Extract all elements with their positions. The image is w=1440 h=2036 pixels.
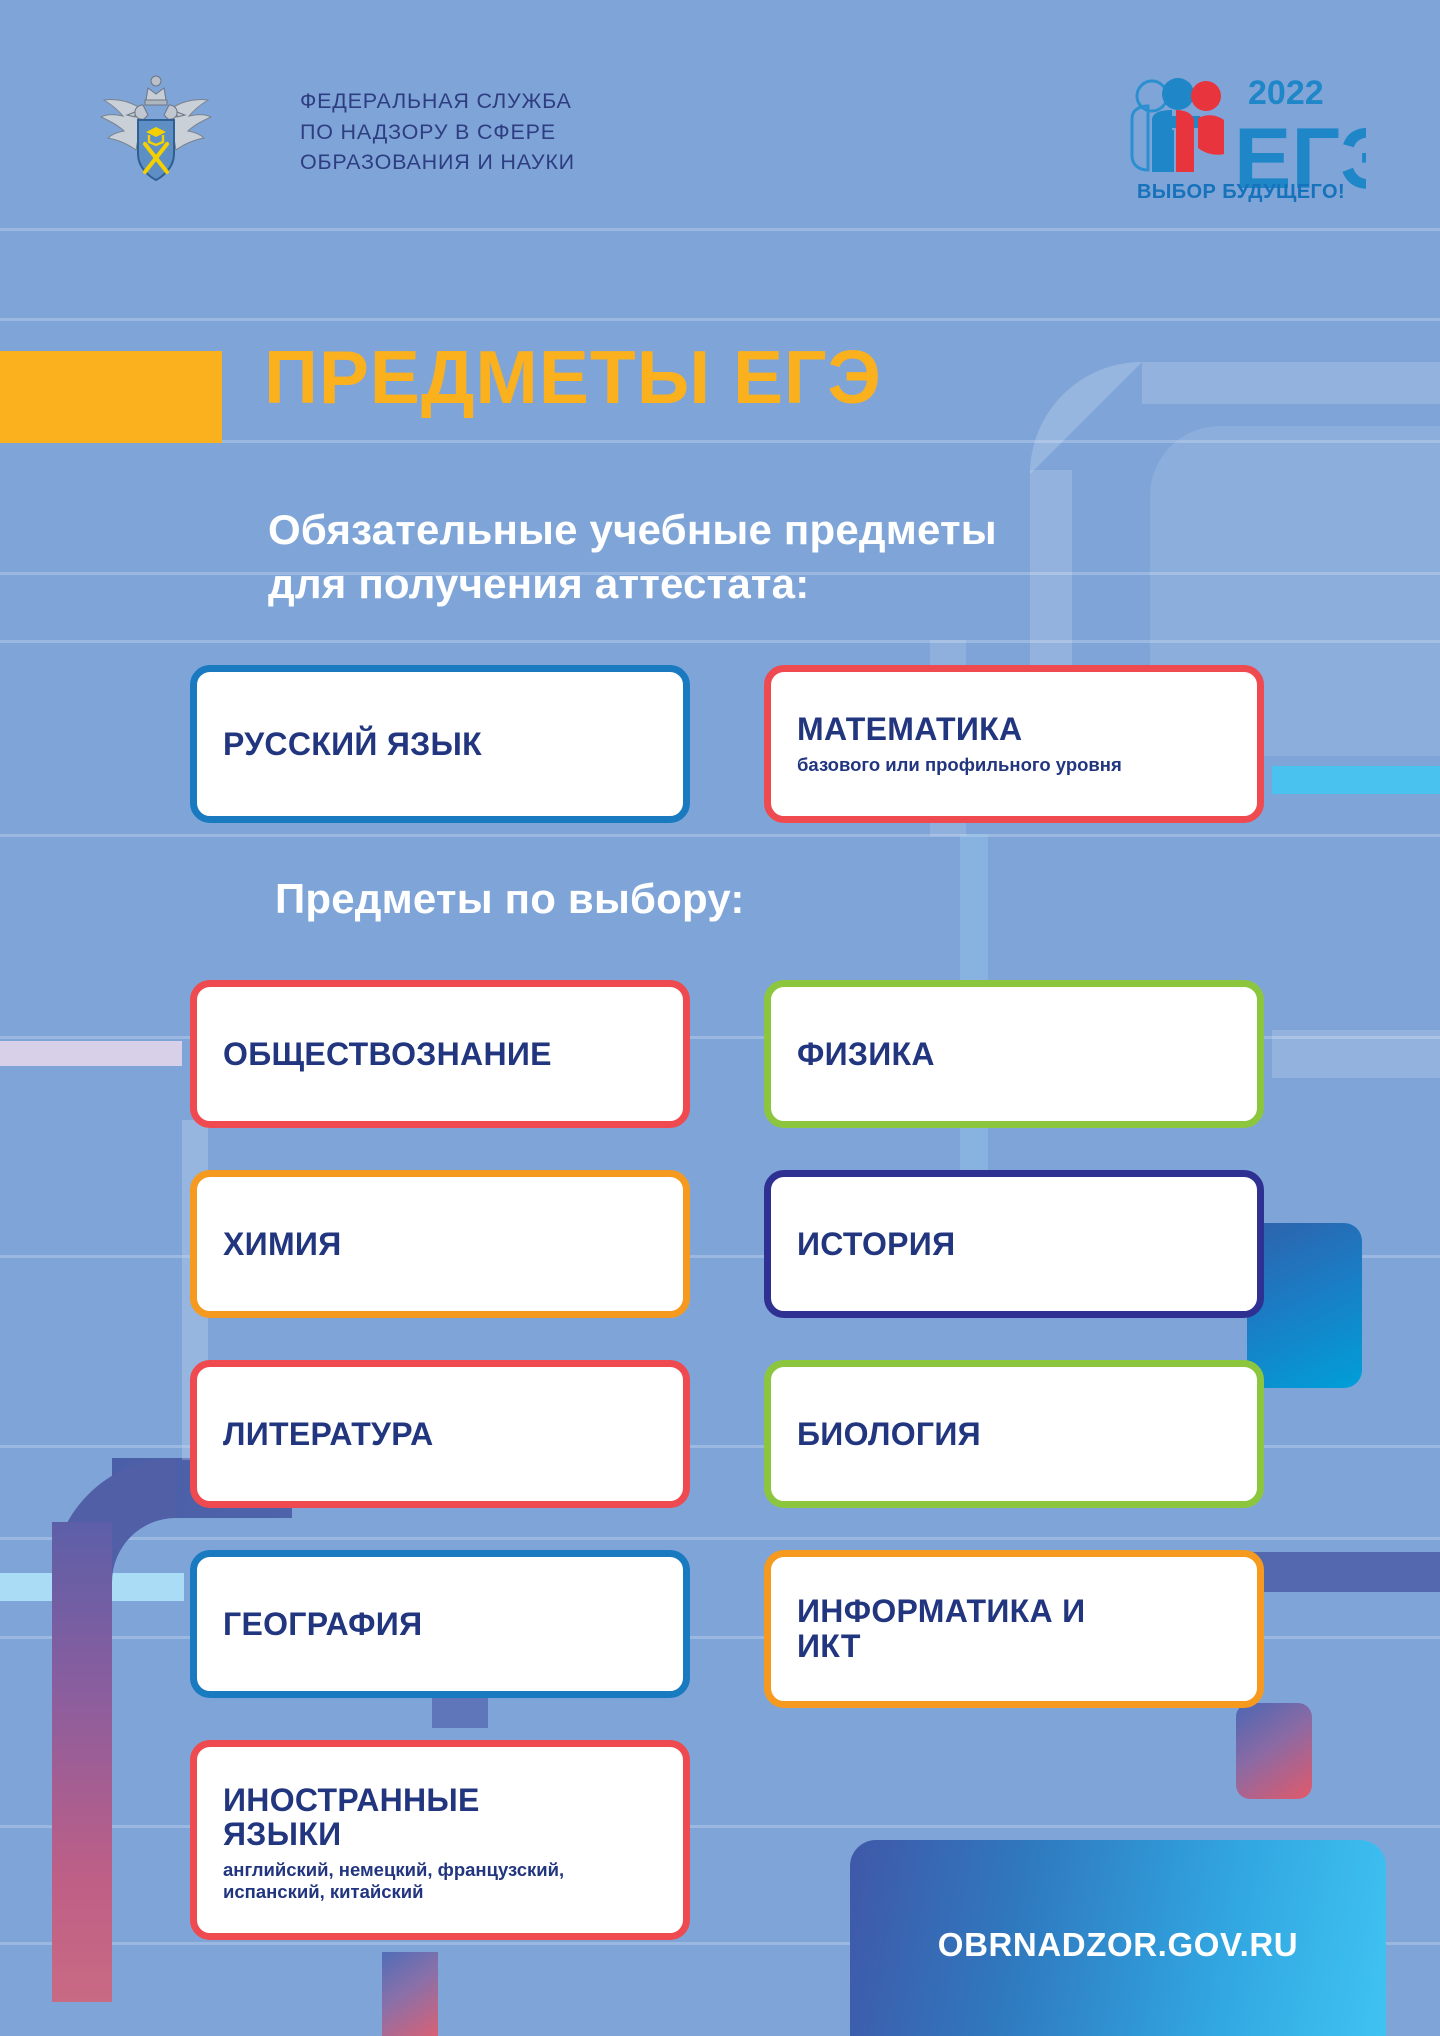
subject-card-title: БИОЛОГИЯ [797, 1417, 1231, 1452]
title-accent-chip [0, 351, 222, 443]
mandatory-heading-line-2: для получения аттестата: [268, 557, 997, 611]
subject-card-biology[interactable]: БИОЛОГИЯ [764, 1360, 1264, 1508]
bg-band-cyan-right [1272, 766, 1440, 794]
subject-card-informatics[interactable]: ИНФОРМАТИКА И ИКТ [764, 1550, 1264, 1708]
subject-card-title: ИНОСТРАННЫЕ ЯЗЫКИ [223, 1783, 553, 1852]
page-title: ПРЕДМЕТЫ ЕГЭ [264, 340, 882, 415]
subject-card-subtitle: базового или профильного уровня [797, 754, 1231, 776]
subject-card-title: ОБЩЕСТВОЗНАНИЕ [223, 1037, 657, 1072]
agency-name: ФЕДЕРАЛЬНАЯ СЛУЖБА ПО НАДЗОРУ В СФЕРЕ ОБ… [300, 86, 575, 178]
header: ФЕДЕРАЛЬНАЯ СЛУЖБА ПО НАДЗОРУ В СФЕРЕ ОБ… [0, 0, 1440, 230]
bg-band-indigo-right [1248, 1552, 1440, 1592]
subject-card-title: ФИЗИКА [797, 1037, 1231, 1072]
elective-section-heading: Предметы по выбору: [275, 872, 745, 926]
footer-url-link[interactable]: OBRNADZOR.GOV.RU [850, 1926, 1386, 1964]
rosobrnadzor-emblem-icon [96, 72, 216, 182]
subject-card-foreign-languages[interactable]: ИНОСТРАННЫЕ ЯЗЫКИ английский, немецкий, … [190, 1740, 690, 1940]
bg-pipe-horizontal-topright [1142, 362, 1440, 404]
agency-name-line-3: ОБРАЗОВАНИЯ И НАУКИ [300, 147, 575, 178]
bg-deco-square-bluecyan [1247, 1223, 1362, 1388]
bg-band-right-1 [1272, 1030, 1440, 1078]
bg-band-lilac-left [0, 1041, 182, 1066]
ege-tagline: ВЫБОР БУДУЩЕГО! [1116, 181, 1366, 204]
subject-card-physics[interactable]: ФИЗИКА [764, 980, 1264, 1128]
agency-name-line-1: ФЕДЕРАЛЬНАЯ СЛУЖБА [300, 86, 575, 117]
bg-pipe-purple-vertical [52, 1522, 112, 2002]
subject-card-title: МАТЕМАТИКА [797, 712, 1231, 747]
subject-card-math[interactable]: МАТЕМАТИКА базового или профильного уров… [764, 665, 1264, 823]
subject-card-title: ИСТОРИЯ [797, 1227, 1231, 1262]
svg-text:2022: 2022 [1248, 74, 1324, 112]
mandatory-section-heading: Обязательные учебные предметы для получе… [268, 503, 997, 611]
bg-hline [0, 834, 1440, 837]
subject-card-russian[interactable]: РУССКИЙ ЯЗЫК [190, 665, 690, 823]
agency-name-line-2: ПО НАДЗОРУ В СФЕРЕ [300, 117, 575, 148]
subject-card-history[interactable]: ИСТОРИЯ [764, 1170, 1264, 1318]
subject-card-chemistry[interactable]: ХИМИЯ [190, 1170, 690, 1318]
subject-card-title: ИНФОРМАТИКА И ИКТ [797, 1594, 1127, 1663]
subject-card-title: РУССКИЙ ЯЗЫК [223, 727, 657, 762]
subject-card-literature[interactable]: ЛИТЕРАТУРА [190, 1360, 690, 1508]
bg-elbow-topright [1030, 362, 1142, 474]
subject-card-subtitle: английский, немецкий, французский, испан… [223, 1859, 657, 1903]
subject-card-title: ГЕОГРАФИЯ [223, 1607, 657, 1642]
subject-card-geography[interactable]: ГЕОГРАФИЯ [190, 1550, 690, 1698]
subject-card-title: ЛИТЕРАТУРА [223, 1417, 657, 1452]
bg-stub-bluepink-bottom [382, 1952, 438, 2036]
bg-hline [0, 318, 1440, 321]
subject-card-social-studies[interactable]: ОБЩЕСТВОЗНАНИЕ [190, 980, 690, 1128]
bg-deco-square-bluepink [1236, 1703, 1312, 1799]
mandatory-heading-line-1: Обязательные учебные предметы [268, 503, 997, 557]
subject-card-title: ХИМИЯ [223, 1227, 657, 1262]
